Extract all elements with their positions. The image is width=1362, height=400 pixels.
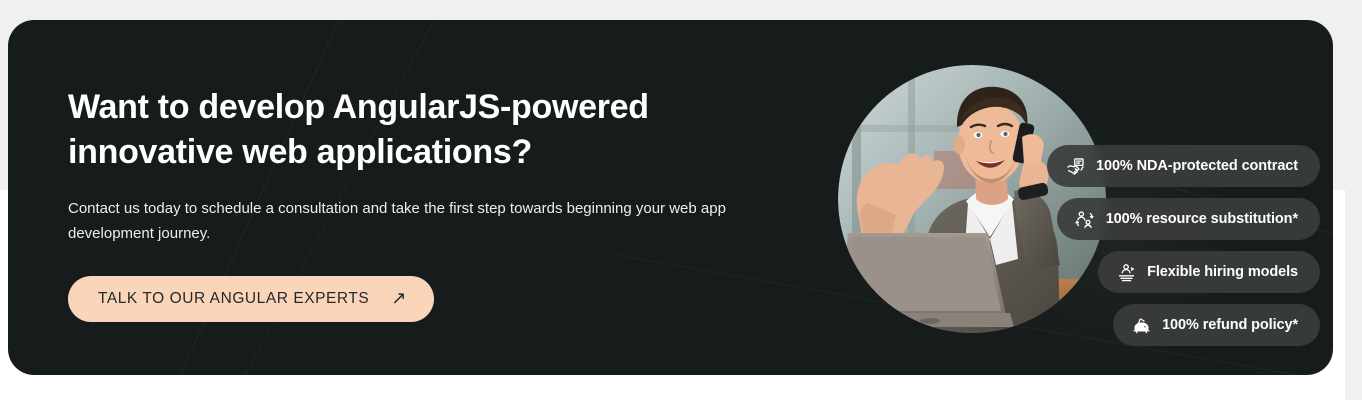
- cta-button-label: TALK TO OUR ANGULAR EXPERTS: [98, 290, 369, 308]
- badge-flexible-hiring-models[interactable]: Flexible hiring models: [1098, 251, 1320, 293]
- page-title: Want to develop AngularJS-powered innova…: [68, 85, 808, 175]
- page-background-right: [1333, 330, 1345, 400]
- arrow-up-right-icon: ↗: [391, 289, 406, 307]
- cta-subcopy: Contact us today to schedule a consultat…: [68, 197, 778, 246]
- cta-copy-block: Want to develop AngularJS-powered innova…: [68, 85, 808, 322]
- badge-label: Flexible hiring models: [1147, 264, 1298, 280]
- badge-label: 100% refund policy*: [1162, 317, 1298, 333]
- contract-handshake-icon: [1065, 156, 1085, 176]
- refund-piggy-bank-icon: [1131, 315, 1151, 335]
- badge-resource-substitution[interactable]: 100% resource substitution*: [1057, 198, 1320, 240]
- talk-to-angular-experts-button[interactable]: TALK TO OUR ANGULAR EXPERTS ↗: [68, 276, 434, 322]
- benefit-badges: 100% NDA-protected contract 100% resourc…: [908, 145, 1320, 346]
- badge-label: 100% resource substitution*: [1106, 211, 1298, 227]
- resource-substitution-icon: [1075, 209, 1095, 229]
- cta-banner-card: Want to develop AngularJS-powered innova…: [8, 20, 1333, 375]
- badge-label: 100% NDA-protected contract: [1096, 158, 1298, 174]
- headline-line-2: innovative web applications?: [68, 133, 532, 171]
- badge-refund-policy[interactable]: 100% refund policy*: [1113, 304, 1320, 346]
- headline-line-1: Want to develop AngularJS-powered: [68, 88, 649, 126]
- flexible-hiring-icon: [1116, 262, 1136, 282]
- badge-nda-protected-contract[interactable]: 100% NDA-protected contract: [1047, 145, 1320, 187]
